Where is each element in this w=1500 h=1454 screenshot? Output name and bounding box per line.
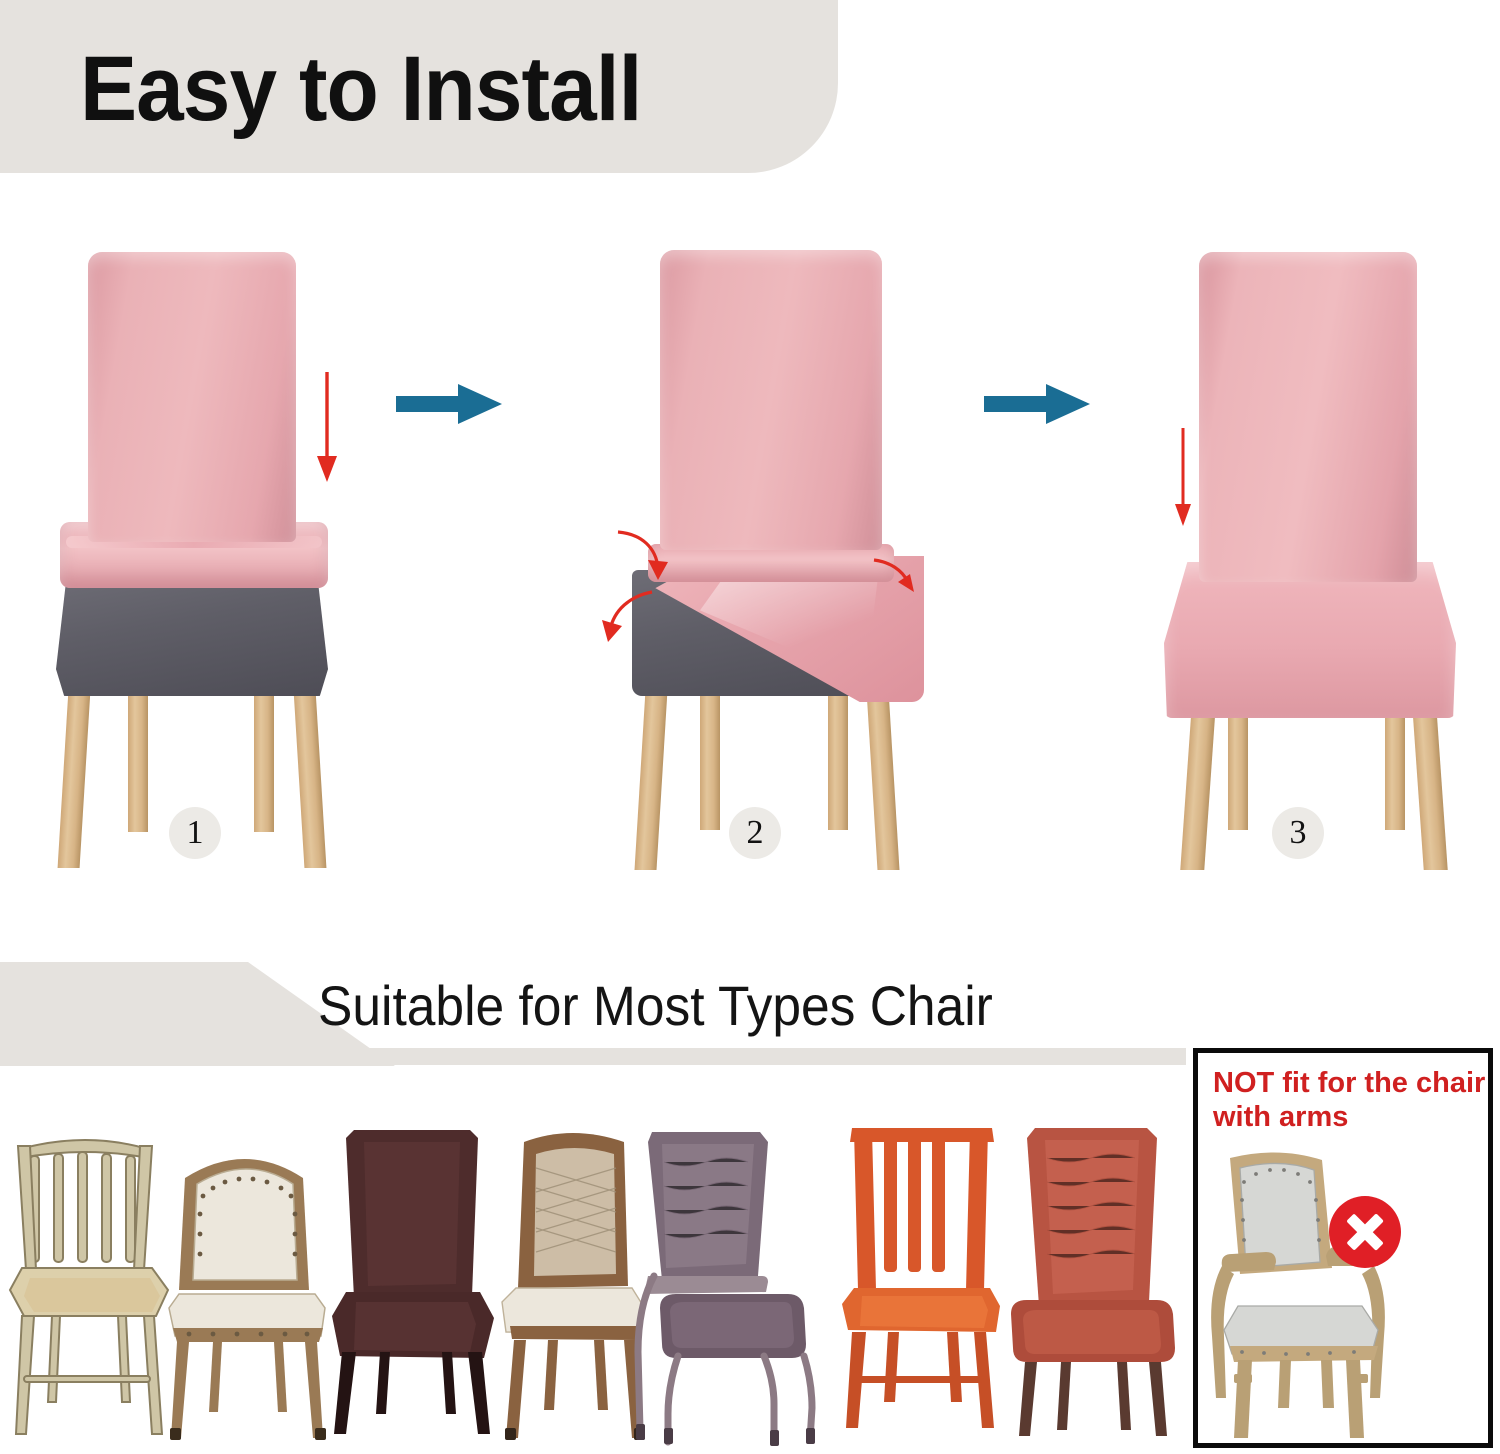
step-badge-3: 3 [1272, 807, 1324, 859]
cover-backrest [660, 250, 882, 550]
warning-line-1: NOT fit for the chair [1213, 1066, 1491, 1100]
chair-leg [128, 680, 148, 832]
pull-corner-arrow-icon [872, 556, 920, 596]
chair-leg [294, 690, 327, 868]
cover-backrest [1199, 252, 1417, 582]
pull-corner-arrow-icon [600, 588, 662, 646]
page-title: Easy to Install [80, 34, 750, 144]
step-badge-1: 1 [169, 807, 221, 859]
chair-leg [1385, 700, 1405, 830]
not-allowed-x-icon [1329, 1196, 1401, 1268]
chair-leg [58, 690, 91, 868]
pull-down-arrow-icon [1168, 424, 1198, 532]
infographic-canvas: Easy to Install 1 [0, 0, 1500, 1454]
section-title: Suitable for Most Types Chair [318, 975, 1045, 1037]
pull-down-arrow-icon [310, 368, 344, 488]
step-badge-2: 2 [729, 807, 781, 859]
section-underbar [0, 1048, 1186, 1065]
chair-leg [1412, 706, 1447, 870]
warning-line-2: with arms [1213, 1100, 1491, 1134]
chair-leg [254, 680, 274, 832]
chair-leg [700, 680, 720, 830]
chair-leg [1228, 700, 1248, 830]
cover-backrest [88, 252, 296, 542]
chair-leg [1180, 706, 1215, 870]
warning-text: NOT fit for the chair with arms [1213, 1066, 1491, 1134]
next-step-arrow-icon [984, 381, 1092, 427]
covered-seat [1164, 562, 1456, 718]
uncovered-seat [56, 574, 328, 696]
next-step-arrow-icon [396, 381, 504, 427]
chair-leg [828, 680, 848, 830]
pull-corner-arrow-icon [612, 528, 672, 584]
chair-leg [866, 690, 899, 870]
chair-leg [634, 690, 667, 870]
